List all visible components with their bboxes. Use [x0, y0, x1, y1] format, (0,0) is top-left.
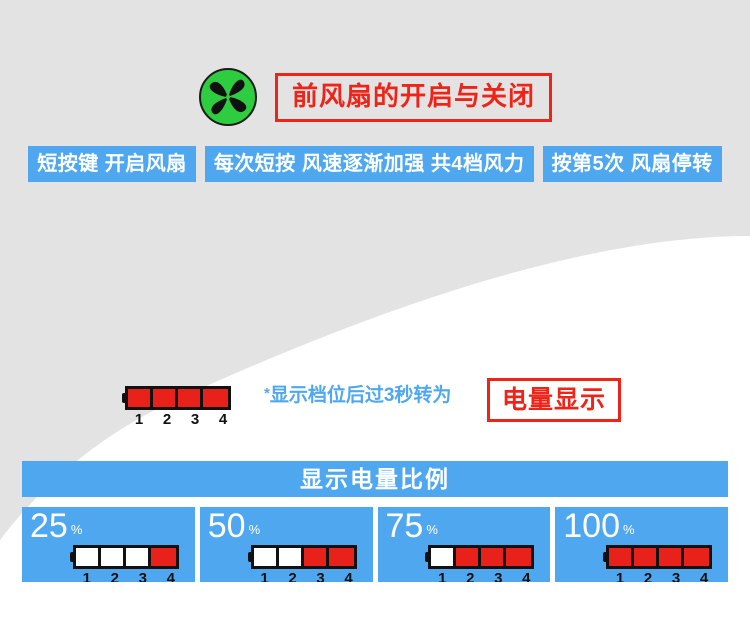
battery-gauge-50-tick-3: 3: [307, 571, 335, 582]
battery-gauge-100-tick-2: 2: [634, 571, 662, 582]
percent-value-25: 25: [30, 509, 68, 543]
percent-label-25: 25 %: [30, 509, 82, 543]
battery-gauge-50-cell-3: [304, 548, 329, 566]
battery-gauge-100-cell-2: [634, 548, 659, 566]
battery-gauge-100-tick-4: 4: [690, 571, 718, 582]
speed-gauge-ticks: 1 2 3 4: [122, 412, 237, 427]
step-chip-2-label: 每次短按 风速逐渐加强 共4档风力: [214, 154, 525, 174]
battery-display-box: 电量显示: [487, 378, 621, 422]
battery-gauge-25-cell-1: [76, 548, 101, 566]
percent-label-100: 100 %: [563, 509, 634, 543]
battery-gauge-50-cell-2: [279, 548, 304, 566]
battery-gauge-50-tick-4: 4: [335, 571, 363, 582]
step-chip-3: 按第5次 风扇停转: [543, 146, 722, 182]
battery-gauge-25: 1 2 3 4: [70, 545, 185, 582]
speed-gauge-cell-2: [153, 389, 178, 407]
step-chip-2: 每次短按 风速逐渐加强 共4档风力: [205, 146, 534, 182]
battery-gauge-50-ticks: 1 2 3 4: [248, 571, 363, 582]
battery-gauge-75: 1 2 3 4: [425, 545, 540, 582]
percent-cell-25: 25 %: [22, 507, 195, 582]
battery-gauge-25-tick-3: 3: [129, 571, 157, 582]
speed-gauge-tick-2: 2: [153, 412, 181, 427]
percent-label-50: 50 %: [208, 509, 260, 543]
panel-header-title: 显示电量比例: [300, 468, 450, 491]
percent-sign-25: %: [71, 523, 83, 536]
battery-gauge-75-cell-4: [506, 548, 531, 566]
battery-gauge-50-cell-4: [329, 548, 354, 566]
battery-gauge-25-cell-2: [101, 548, 126, 566]
percent-sign-100: %: [623, 523, 635, 536]
battery-gauge-75-tick-1: 1: [428, 571, 456, 582]
battery-display-label: 电量显示: [502, 388, 606, 413]
step-chip-1: 短按键 开启风扇: [28, 146, 196, 182]
header-row: 前风扇的开启与关闭: [0, 60, 750, 134]
battery-gauge-100-tick-3: 3: [662, 571, 690, 582]
battery-gauge-50: 1 2 3 4: [248, 545, 363, 582]
battery-gauge-50-tick-2: 2: [279, 571, 307, 582]
speed-gauge-tick-4: 4: [209, 412, 237, 427]
battery-gauge-75-cell-3: [481, 548, 506, 566]
battery-gauge-25-tick-2: 2: [101, 571, 129, 582]
battery-gauge-25-tick-1: 1: [73, 571, 101, 582]
battery-gauge-75-tick-4: 4: [512, 571, 540, 582]
battery-gauge-25-ticks: 1 2 3 4: [70, 571, 185, 582]
percent-sign-50: %: [249, 523, 261, 536]
speed-gauge-tick-3: 3: [181, 412, 209, 427]
infographic-page: 前风扇的开启与关闭 短按键 开启风扇 每次短按 风速逐渐加强 共4档风力 按第5…: [0, 0, 750, 643]
steps-row: 短按键 开启风扇 每次短按 风速逐渐加强 共4档风力 按第5次 风扇停转: [0, 145, 750, 183]
step-chip-3-label: 按第5次 风扇停转: [552, 154, 713, 174]
percent-value-50: 50: [208, 509, 246, 543]
percent-label-75: 75 %: [386, 509, 438, 543]
percent-value-100: 100: [563, 509, 620, 543]
percent-sign-75: %: [426, 523, 438, 536]
page-title: 前风扇的开启与关闭: [292, 83, 535, 109]
battery-gauge-75-ticks: 1 2 3 4: [425, 571, 540, 582]
battery-gauge-100-cell-3: [659, 548, 684, 566]
percent-cell-100: 100 %: [555, 507, 728, 582]
battery-gauge-100-cell-1: [609, 548, 634, 566]
battery-gauge-75-cell-1: [431, 548, 456, 566]
battery-gauge-50-cells: [251, 545, 357, 569]
battery-gauge-50-tick-1: 1: [251, 571, 279, 582]
battery-gauge-100-cell-4: [684, 548, 709, 566]
battery-ratio-panel: 显示电量比例 25 %: [22, 461, 728, 582]
battery-gauge-25-cell-3: [126, 548, 151, 566]
percent-value-75: 75: [386, 509, 424, 543]
fan-icon: [198, 67, 258, 127]
battery-gauge-100-tick-1: 1: [606, 571, 634, 582]
battery-gauge-25-cells: [73, 545, 179, 569]
speed-gauge-cell-1: [128, 389, 153, 407]
step-chip-1-label: 短按键 开启风扇: [37, 154, 187, 174]
percent-cell-50: 50 %: [200, 507, 373, 582]
battery-gauge-50-cell-1: [254, 548, 279, 566]
transition-note: *显示档位后过3秒转为: [264, 386, 451, 407]
percent-cell-75: 75 %: [378, 507, 551, 582]
speed-gauge-tick-1: 1: [125, 412, 153, 427]
battery-gauge-75-cell-2: [456, 548, 481, 566]
battery-gauge-25-tick-4: 4: [157, 571, 185, 582]
speed-gauge-cells: [125, 386, 231, 410]
battery-gauge-75-cells: [428, 545, 534, 569]
battery-gauge-25-cell-4: [151, 548, 176, 566]
title-box: 前风扇的开启与关闭: [275, 73, 552, 122]
note-text: 显示档位后过3秒转为: [270, 385, 452, 406]
panel-cells: 25 %: [22, 507, 728, 582]
battery-gauge-100-cells: [606, 545, 712, 569]
speed-gauge: 1 2 3 4: [122, 386, 237, 429]
battery-gauge-75-tick-2: 2: [456, 571, 484, 582]
speed-gauge-cell-3: [178, 389, 203, 407]
battery-gauge-75-tick-3: 3: [484, 571, 512, 582]
speed-gauge-cell-4: [203, 389, 228, 407]
panel-header: 显示电量比例: [22, 461, 728, 497]
battery-gauge-100: 1 2 3 4: [603, 545, 718, 582]
battery-gauge-100-ticks: 1 2 3 4: [603, 571, 718, 582]
